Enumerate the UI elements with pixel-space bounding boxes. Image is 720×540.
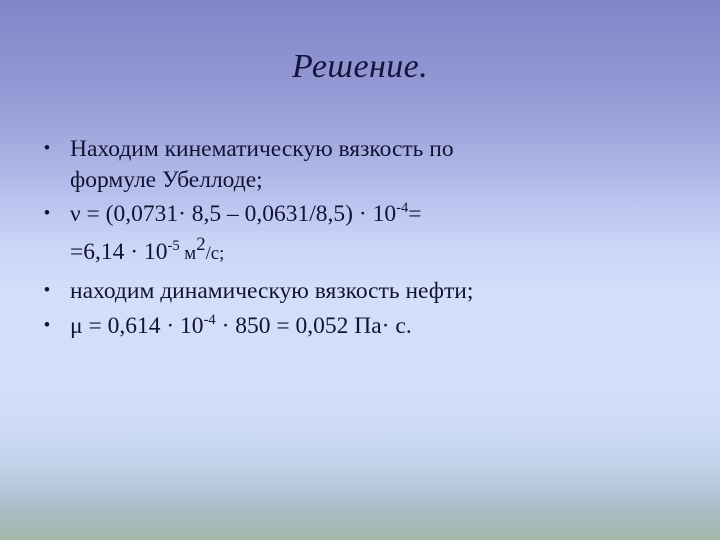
formula-prefix: μ = 0,614 · 10 bbox=[70, 313, 204, 339]
list-item-line: Находим кинематическую вязкость по bbox=[70, 134, 696, 164]
formula-suffix: = bbox=[408, 201, 421, 227]
result-exponent: -5 bbox=[167, 238, 179, 254]
page-title: Решение. bbox=[0, 48, 720, 85]
spacer bbox=[24, 230, 696, 237]
formula-kinematic-result: =6,14 · 10-5 м2/с; bbox=[24, 237, 696, 269]
list-item-line: формуле Убеллоде; bbox=[70, 167, 263, 193]
list-item: • ν = (0,0731· 8,5 – 0,0631/8,5) · 10-4= bbox=[24, 199, 696, 229]
result-prefix: =6,14 · 10 bbox=[70, 239, 167, 265]
formula-suffix: · 850 = 0,052 Па· с. bbox=[216, 313, 412, 339]
spacer bbox=[24, 269, 696, 276]
content-body: • Находим кинематическую вязкость по фор… bbox=[24, 134, 696, 342]
formula-dynamic-viscosity: μ = 0,614 · 10-4 · 850 = 0,052 Па· с. bbox=[70, 311, 696, 341]
formula-prefix: ν = (0,0731· 8,5 – 0,0631/8,5) · 10 bbox=[70, 201, 396, 227]
list-item: • находим динамическую вязкость нефти; bbox=[24, 276, 696, 306]
formula-exponent: -4 bbox=[204, 312, 216, 328]
bullet-marker-icon: • bbox=[42, 134, 52, 164]
unit-suffix: /с; bbox=[206, 243, 225, 264]
bullet-marker-icon: • bbox=[42, 311, 52, 341]
list-item-line: находим динамическую вязкость нефти; bbox=[70, 276, 696, 306]
list-item: • μ = 0,614 · 10-4 · 850 = 0,052 Па· с. bbox=[24, 311, 696, 341]
formula-exponent: -4 bbox=[396, 200, 408, 216]
list-item: • Находим кинематическую вязкость по bbox=[24, 134, 696, 164]
unit-exponent: 2 bbox=[196, 234, 205, 255]
unit-base: м bbox=[180, 243, 197, 264]
list-item-wrap-line: формуле Убеллоде; bbox=[24, 165, 696, 195]
bullet-marker-icon: • bbox=[42, 276, 52, 306]
formula-kinematic-viscosity: ν = (0,0731· 8,5 – 0,0631/8,5) · 10-4= bbox=[70, 199, 696, 229]
slide-canvas: Решение. • Находим кинематическую вязкос… bbox=[0, 0, 720, 540]
bullet-marker-icon: • bbox=[42, 199, 52, 229]
